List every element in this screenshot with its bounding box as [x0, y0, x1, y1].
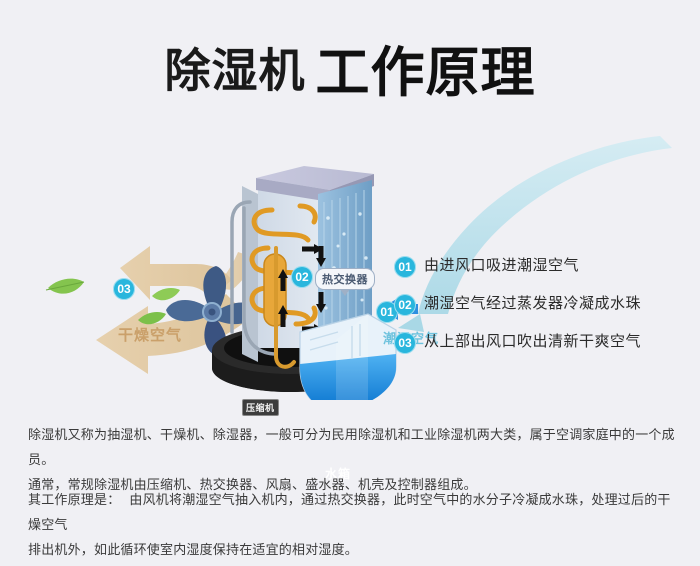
- step-text-02: 潮湿空气经过蒸发器冷凝成水珠: [424, 292, 641, 313]
- step-badge-01: 01: [394, 256, 416, 278]
- step-text-03: 从上部出风口吹出清新干爽空气: [424, 330, 641, 351]
- page-title: 除湿机工作原理: [0, 28, 700, 107]
- label-heat-exchanger: 热交换器: [315, 268, 375, 290]
- diagram-badge-03: 03: [113, 278, 135, 300]
- label-dry-air: 干燥空气: [118, 324, 182, 345]
- step-badge-03: 03: [394, 332, 416, 354]
- page-title-part1: 除湿机: [165, 45, 306, 97]
- paragraph-2-line-2: 排出机外，如此循环使室内湿度保持在适宜的相对湿度。: [28, 537, 676, 562]
- list-item: 02 潮湿空气经过蒸发器冷凝成水珠: [394, 293, 694, 331]
- page-title-part2: 工作原理: [316, 43, 536, 103]
- step-text-01: 由进风口吸进潮湿空气: [424, 254, 579, 275]
- description-paragraph-2: 其工作原理是：由风机将潮湿空气抽入机内，通过热交换器，此时空气中的水分子冷凝成水…: [28, 487, 676, 562]
- label-compressor: 压缩机: [242, 399, 279, 416]
- paragraph-2-lead-rest: 由风机将潮湿空气抽入机内，通过热交换器，此时空气中的水分子冷凝成水珠，处理过后的…: [28, 492, 671, 532]
- paragraph-1-line-1: 除湿机又称为抽湿机、干燥机、除湿器，一般可分为民用除湿机和工业除湿机两大类，属于…: [28, 422, 676, 472]
- paragraph-2-line-1: 其工作原理是：由风机将潮湿空气抽入机内，通过热交换器，此时空气中的水分子冷凝成水…: [28, 487, 676, 537]
- description-paragraph-1: 除湿机又称为抽湿机、干燥机、除湿器，一般可分为民用除湿机和工业除湿机两大类，属于…: [28, 422, 676, 497]
- step-badge-02: 02: [394, 294, 416, 316]
- list-item: 01 由进风口吸进潮湿空气: [394, 255, 694, 293]
- diagram-badge-02: 02: [291, 266, 313, 288]
- list-item: 03 从上部出风口吹出清新干爽空气: [394, 331, 694, 369]
- step-list: 01 由进风口吸进潮湿空气 02 潮湿空气经过蒸发器冷凝成水珠 03 从上部出风…: [394, 255, 694, 369]
- paragraph-2-lead: 其工作原理是：: [28, 492, 120, 507]
